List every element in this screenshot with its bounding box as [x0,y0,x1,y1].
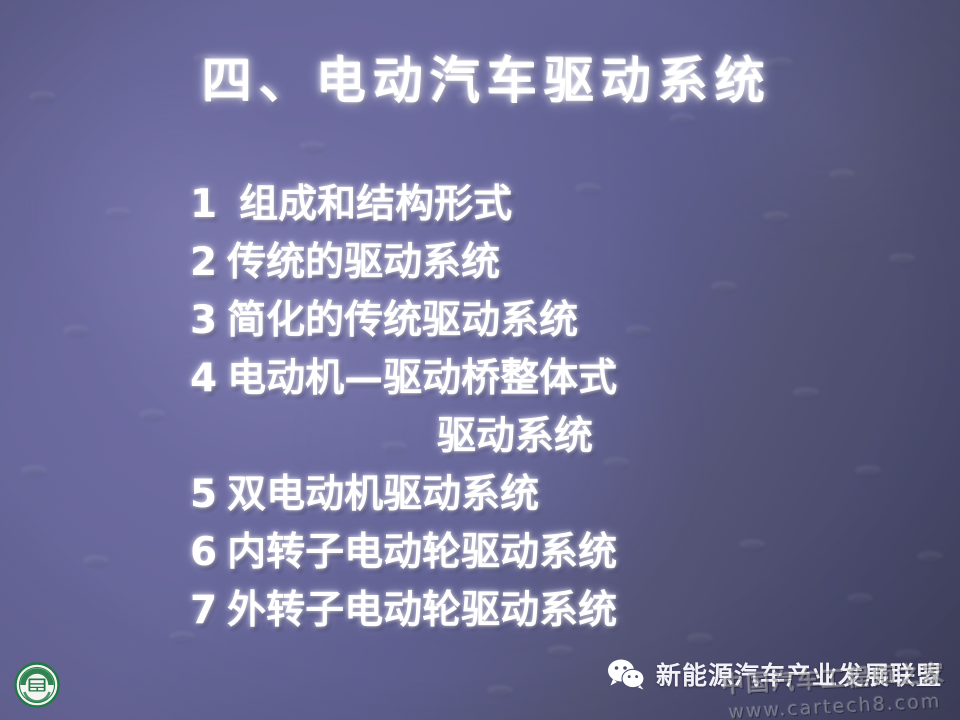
list-item-continuation: 驱动系统 [190,408,830,466]
list-item-number: 3 [190,292,217,350]
list-item: 6内转子电动轮驱动系统 [190,524,830,582]
list-item-number: 6 [190,524,217,582]
list-item: 3简化的传统驱动系统 [190,292,830,350]
list-item-label: 外转子电动轮驱动系统 [227,588,617,633]
page-title: 四、电动汽车驱动系统 [0,52,960,111]
list-item-number: 4 [190,350,217,408]
list-item: 2传统的驱动系统 [190,234,830,292]
list-item: 1组成和结构形式 [190,176,830,234]
list-item-number: 1 [190,176,217,234]
list-item-label: 传统的驱动系统 [227,240,500,285]
list-item: 7外转子电动轮驱动系统 [190,582,830,640]
list-item: 4电动机—驱动桥整体式 [190,350,830,408]
circular-seal-logo [14,662,60,708]
slide-canvas: 四、电动汽车驱动系统 1组成和结构形式 2传统的驱动系统 3简化的传统驱动系统 … [0,0,960,720]
list-item-label: 电动机—驱动桥整体式 [227,356,617,401]
list-item-number: 2 [190,234,217,292]
list-item-label: 组成和结构形式 [239,182,512,227]
list-item-label: 双电动机驱动系统 [227,472,539,517]
brand-footer: 新能源汽车产业发展联盟 [606,656,942,692]
watermark-url: www.cartech8.com [722,690,948,720]
list-item-label: 内转子电动轮驱动系统 [227,530,617,575]
list-item-number: 7 [190,582,217,640]
slide-outline-list: 1组成和结构形式 2传统的驱动系统 3简化的传统驱动系统 4电动机—驱动桥整体式… [190,176,830,640]
list-item-number: 5 [190,466,217,524]
list-item-label: 简化的传统驱动系统 [227,298,578,343]
wechat-icon [606,658,646,690]
brand-name: 新能源汽车产业发展联盟 [656,656,942,692]
list-item: 5双电动机驱动系统 [190,466,830,524]
